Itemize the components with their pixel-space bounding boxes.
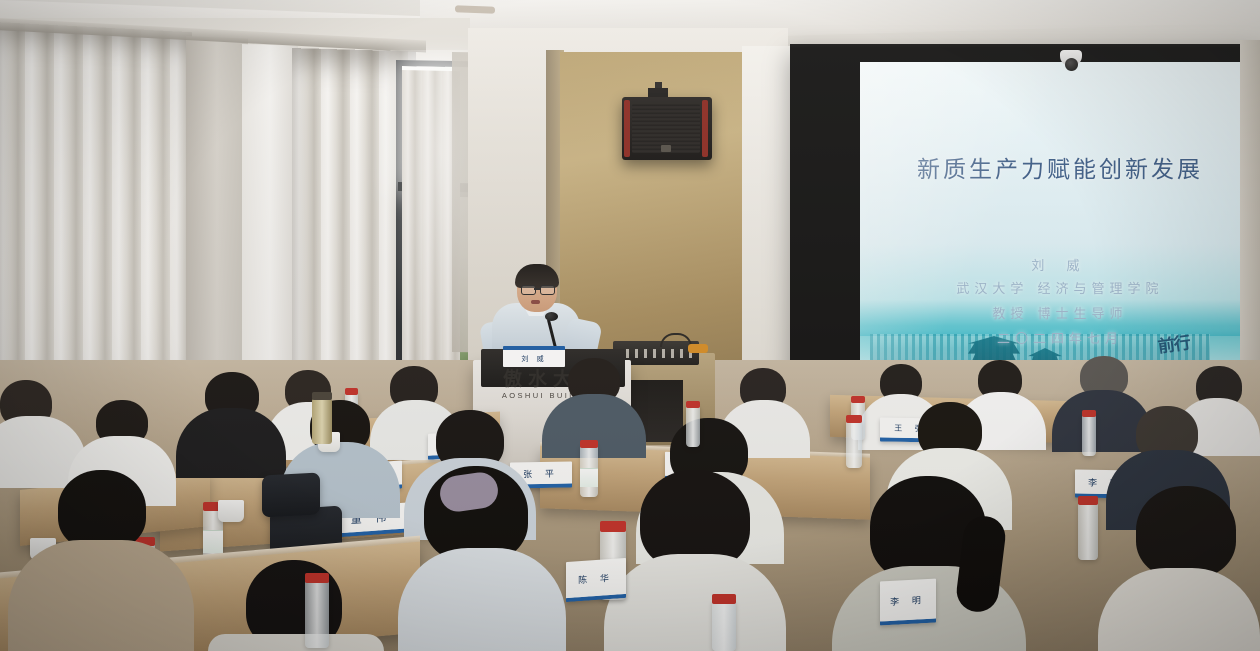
speaker-trim-left xyxy=(624,100,630,157)
audio-rack-handle xyxy=(688,344,708,353)
bottle-cap xyxy=(1082,410,1096,417)
tea-tumbler xyxy=(312,398,332,444)
audio-mixer-knobs xyxy=(617,349,695,358)
water-bottle xyxy=(1082,414,1096,456)
bottle-cap xyxy=(712,594,736,604)
audience-shoulders xyxy=(398,548,566,651)
projection-screen: 新质生产力赋能创新发展 刘 威 武汉大学 经济与管理学院 教授 博士生导师 二〇… xyxy=(860,62,1260,392)
nameplate-text: 张 平 xyxy=(523,466,559,480)
water-bottle xyxy=(1078,502,1098,560)
bottle-cap xyxy=(580,440,598,448)
audience-shoulders xyxy=(208,634,384,651)
paper-cup xyxy=(218,500,244,522)
audience-head xyxy=(1136,486,1236,578)
microphone-icon xyxy=(545,312,558,321)
podium-nameplate: 刘 威 xyxy=(503,346,565,367)
speaker-trim-right xyxy=(702,100,708,157)
presenter-glasses-bridge xyxy=(534,288,540,290)
audience-shoulders xyxy=(8,540,194,651)
presenter-mouth xyxy=(531,300,540,304)
speaker-badge xyxy=(661,145,671,152)
water-bottle xyxy=(686,405,700,447)
nameplate-text: 李 明 xyxy=(890,593,926,608)
bottle-label xyxy=(203,530,223,553)
water-bottle xyxy=(305,580,329,648)
audience-head xyxy=(58,470,146,550)
bottle-cap xyxy=(305,573,329,583)
bottle-label xyxy=(580,468,598,487)
bottle-cap xyxy=(686,401,700,408)
bottle-cap xyxy=(1078,496,1098,505)
table-nameplate: 李 明 xyxy=(880,579,936,626)
podium-nameplate-text: 刘 威 xyxy=(521,354,546,364)
screen-sheen xyxy=(860,62,1260,392)
presenter-glasses-left xyxy=(521,285,536,295)
chair xyxy=(262,472,320,517)
presenter-glasses-right xyxy=(540,285,555,295)
ceiling-vent-icon xyxy=(455,5,495,13)
bottle-cap xyxy=(851,396,865,403)
water-bottle xyxy=(846,420,862,468)
bottle-cap xyxy=(846,415,862,423)
bottle-cap xyxy=(600,521,626,532)
lecture-hall-photo: 新质生产力赋能创新发展 刘 威 武汉大学 经济与管理学院 教授 博士生导师 二〇… xyxy=(0,0,1260,651)
tumbler-lid xyxy=(312,392,332,400)
table-nameplate: 陈 华 xyxy=(566,558,626,602)
dome-camera-lens xyxy=(1065,58,1078,71)
nameplate-text: 陈 华 xyxy=(578,570,614,586)
water-bottle xyxy=(712,600,736,651)
bottle-cap xyxy=(345,388,358,395)
